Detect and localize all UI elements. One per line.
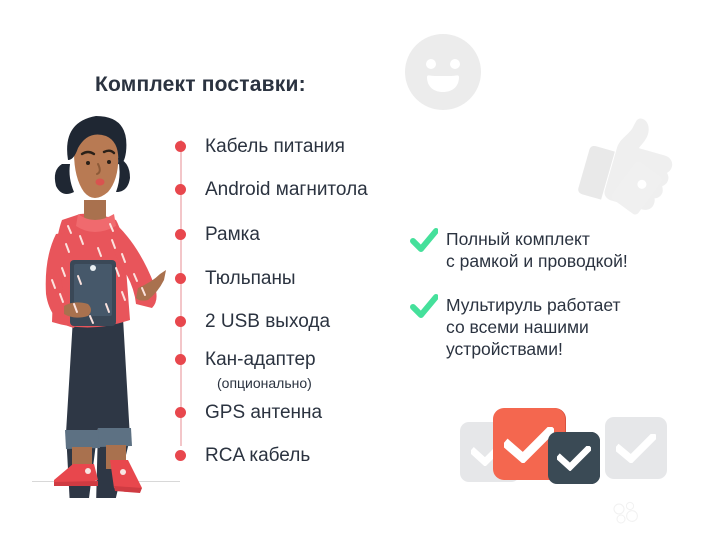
list-item: 2 USB выхода xyxy=(205,312,330,332)
highlight-line: Мультируль работает xyxy=(446,294,700,316)
list-item: Кабель питания xyxy=(205,137,345,157)
poster-canvas: Комплект поставки: Кабель питания Androi… xyxy=(0,0,720,540)
highlight-text: Мультируль работает со всеми нашими устр… xyxy=(446,294,700,360)
highlight-line: Полный комплект xyxy=(446,228,700,250)
page-title: Комплект поставки: xyxy=(95,73,306,97)
thumbs-up-icon xyxy=(573,112,685,216)
list-item-label: Кан-адаптер xyxy=(205,349,316,370)
list-item-label: Рамка xyxy=(205,224,260,245)
highlight-line: устройствами! xyxy=(446,338,700,360)
avito-watermark: Avito xyxy=(611,500,707,526)
list-item: Кан-адаптер (опционально) xyxy=(205,350,316,390)
check-icon xyxy=(557,446,591,471)
checkbox-card-dark xyxy=(548,432,600,484)
woman-pointing-illustration xyxy=(18,108,178,498)
list-item: Android магнитола xyxy=(205,180,368,200)
highlight-line: с рамкой и проводкой! xyxy=(446,250,700,272)
avito-wordmark: Avito xyxy=(641,504,688,525)
list-item-label: RCA кабель xyxy=(205,445,310,466)
highlight-item: Мультируль работает со всеми нашими устр… xyxy=(410,294,700,360)
list-item: Тюльпаны xyxy=(205,269,296,289)
checkbox-card-gray-right xyxy=(605,417,667,479)
green-check-icon xyxy=(410,294,438,320)
check-icon xyxy=(504,427,554,463)
list-item-label: Кабель питания xyxy=(205,136,345,157)
checkbox-cards-group xyxy=(455,404,665,486)
highlights-block: Полный комплект с рамкой и проводкой! Му… xyxy=(410,228,700,376)
highlight-line: со всеми нашими xyxy=(446,316,700,338)
list-item-sublabel: (опционально) xyxy=(217,376,316,390)
list-item-label: Тюльпаны xyxy=(205,268,296,289)
list-item-label: Android магнитола xyxy=(205,179,368,200)
check-icon xyxy=(616,434,656,463)
list-item-label: GPS антенна xyxy=(205,402,322,423)
timeline-rail xyxy=(179,134,183,452)
highlight-item: Полный комплект с рамкой и проводкой! xyxy=(410,228,700,272)
list-item: RCA кабель xyxy=(205,446,310,466)
smiley-face-icon xyxy=(404,33,482,111)
list-item: Рамка xyxy=(205,225,260,245)
highlight-text: Полный комплект с рамкой и проводкой! xyxy=(446,228,700,272)
list-item-label: 2 USB выхода xyxy=(205,311,330,332)
list-item: GPS антенна xyxy=(205,403,322,423)
green-check-icon xyxy=(410,228,438,254)
